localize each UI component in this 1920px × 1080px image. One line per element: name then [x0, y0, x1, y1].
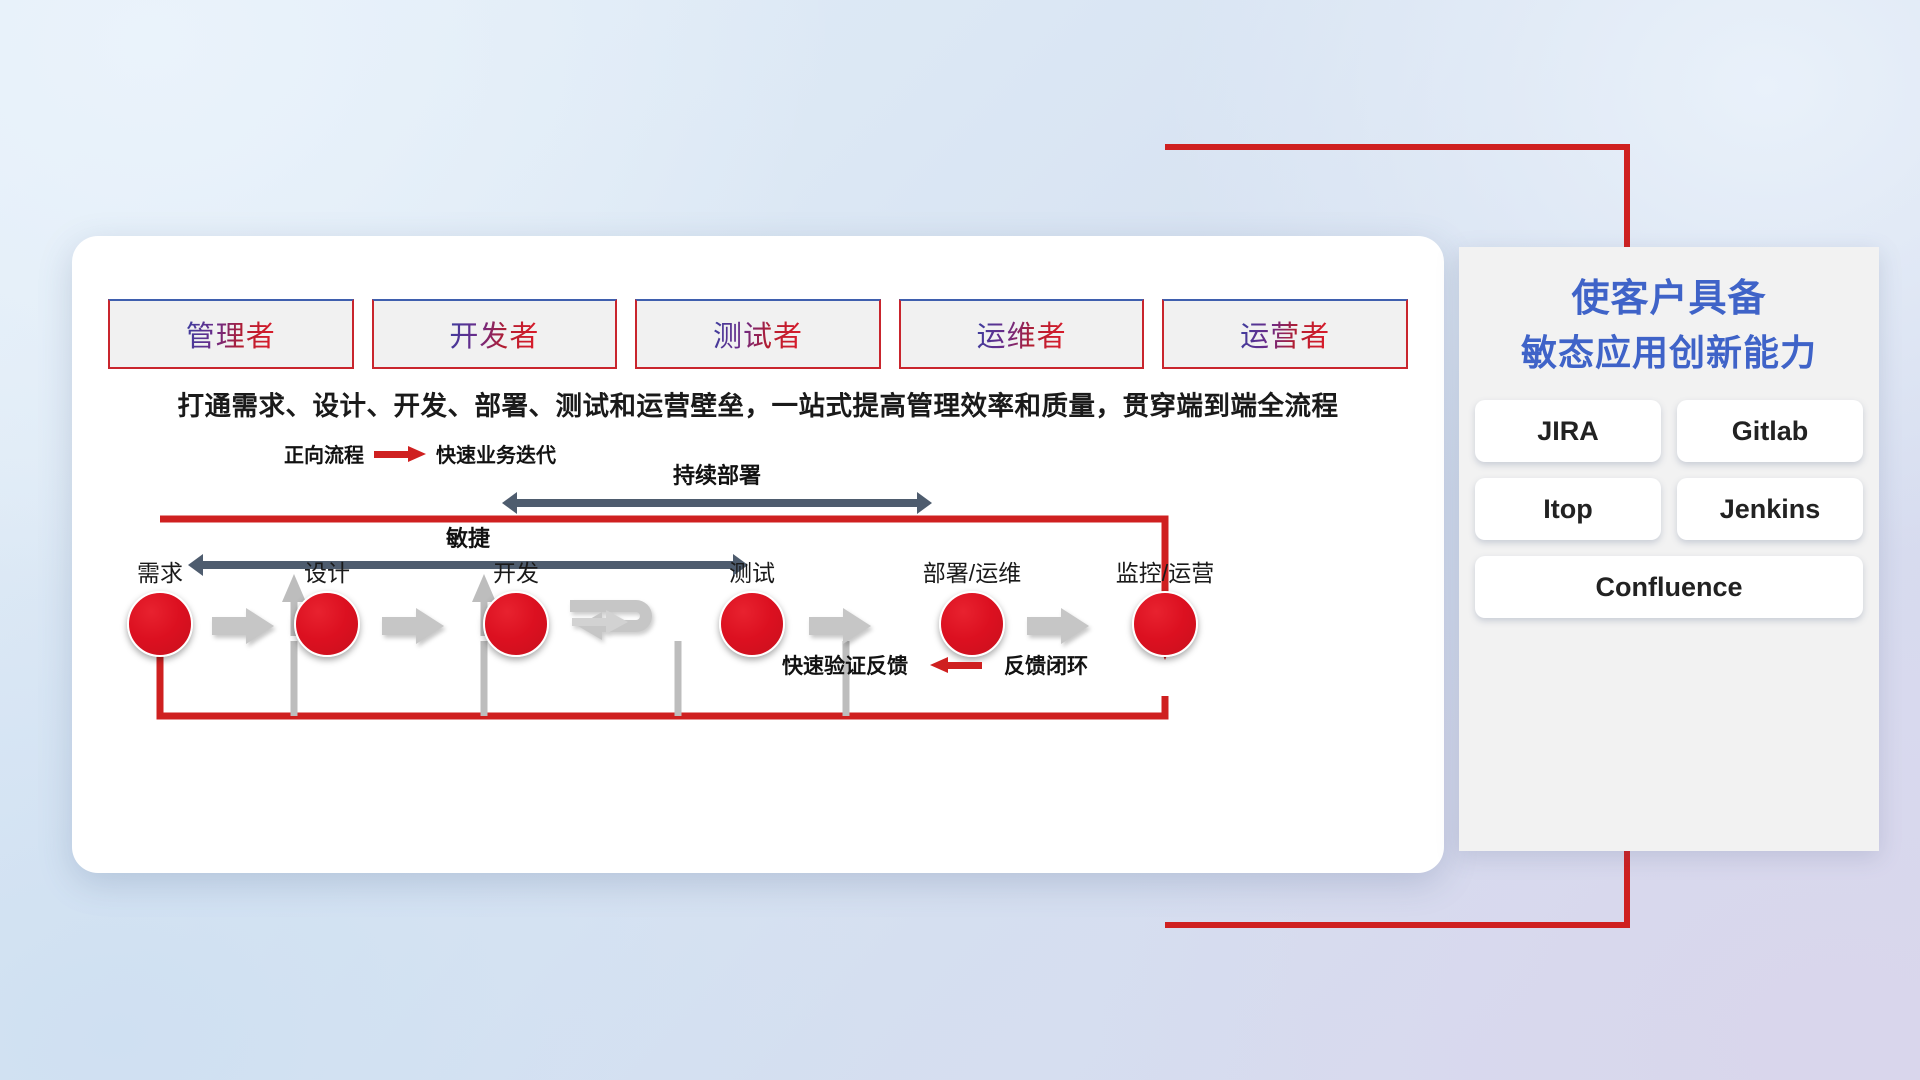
tool-chip-jenkins[interactable]: Jenkins: [1677, 478, 1863, 540]
legend-feedback-loop: 快速验证反馈 反馈闭环: [782, 650, 1088, 680]
node-label-requirement: 需求: [137, 554, 183, 588]
legend-feedback-left-label: 快速验证反馈: [782, 650, 908, 680]
arrow-tip-right: [917, 492, 932, 514]
legend-feedback-right-label: 反馈闭环: [1004, 650, 1088, 680]
legend-forward-left-label: 正向流程: [284, 439, 364, 468]
node-circle-develop[interactable]: [483, 591, 549, 657]
node-circle-deploy-ops[interactable]: [939, 591, 1005, 657]
capability-panel: 使客户具备 敏态应用创新能力 JIRA Gitlab Itop Jenkins …: [1459, 247, 1879, 851]
tool-chip-list: JIRA Gitlab Itop Jenkins Confluence: [1475, 400, 1863, 618]
node-label-deploy-ops: 部署/运维: [923, 554, 1021, 588]
role-box-row: 管理者 开发者 测试者 运维者 运营者: [108, 299, 1408, 369]
chevron-arrow-icon: [212, 606, 274, 646]
main-diagram-card: 管理者 开发者 测试者 运维者 运营者 打通需求、设计、开发、部署、测试和运营壁…: [72, 236, 1444, 873]
role-label: 管理者: [186, 313, 276, 355]
tool-chip-confluence[interactable]: Confluence: [1475, 556, 1863, 618]
role-box-developer[interactable]: 开发者: [372, 299, 618, 369]
rework-loop-icon: [566, 588, 674, 660]
role-label: 运营者: [1240, 313, 1330, 355]
node-label-develop: 开发: [493, 554, 539, 588]
role-label: 开发者: [449, 313, 539, 355]
span-label-agile: 敏捷: [188, 521, 748, 553]
role-label: 测试者: [713, 313, 803, 355]
role-label: 运维者: [977, 313, 1067, 355]
panel-title-line2: 敏态应用创新能力: [1459, 327, 1879, 378]
node-circle-monitor-operate[interactable]: [1132, 591, 1198, 657]
panel-title-line1: 使客户具备: [1459, 273, 1879, 327]
role-box-tester[interactable]: 测试者: [635, 299, 881, 369]
node-label-test: 测试: [729, 554, 775, 588]
role-box-ops[interactable]: 运维者: [899, 299, 1145, 369]
node-circle-design[interactable]: [294, 591, 360, 657]
red-arrow-right-icon: [374, 446, 426, 462]
tool-chip-jira[interactable]: JIRA: [1475, 400, 1661, 462]
panel-title: 使客户具备 敏态应用创新能力: [1459, 273, 1879, 378]
node-circle-test[interactable]: [719, 591, 785, 657]
double-arrow-agile: [188, 554, 748, 576]
role-box-operations[interactable]: 运营者: [1162, 299, 1408, 369]
arrow-bar: [201, 561, 735, 569]
node-label-monitor-operate: 监控/运营: [1116, 554, 1214, 588]
arrow-bar: [515, 499, 919, 507]
chevron-arrow-icon: [1027, 606, 1089, 646]
node-circle-requirement[interactable]: [127, 591, 193, 657]
description-text: 打通需求、设计、开发、部署、测试和运营壁垒，一站式提高管理效率和质量，贯穿端到端…: [108, 384, 1408, 423]
chevron-arrow-icon: [382, 606, 444, 646]
chevron-arrow-icon: [809, 606, 871, 646]
node-label-design: 设计: [304, 554, 350, 588]
tool-chip-itop[interactable]: Itop: [1475, 478, 1661, 540]
role-box-manager[interactable]: 管理者: [108, 299, 354, 369]
tool-chip-gitlab[interactable]: Gitlab: [1677, 400, 1863, 462]
span-label-continuous-deploy: 持续部署: [502, 458, 932, 490]
red-arrow-left-icon: [930, 657, 982, 673]
double-arrow-continuous-deploy: [502, 492, 932, 514]
